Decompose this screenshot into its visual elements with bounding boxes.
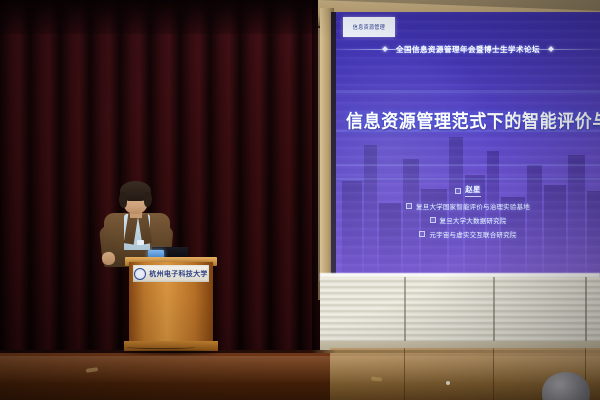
floor-cable [126, 344, 196, 349]
slide-affiliation-row: 元宇宙与虚实交互联合研究院 [336, 229, 600, 239]
square-bullet-icon [406, 203, 412, 209]
speaker-badge [137, 240, 144, 245]
slide-presenter-block: 赵星 复旦大学国家智能评价与治理实验基地 复旦大学大数据研究院 元宇宙与虚实交互… [336, 184, 600, 243]
podium-plaque-text: 杭州电子科技大学 [149, 269, 207, 279]
ribbed-wall-panel [320, 277, 600, 341]
podium-shadow [118, 349, 226, 356]
slide-presenter-row: 赵星 [336, 184, 600, 197]
floor-debris [446, 381, 450, 385]
diamond-bullet-icon [548, 46, 554, 52]
podium-plaque: 杭州电子科技大学 [133, 265, 209, 282]
square-bullet-icon [419, 231, 425, 237]
slide-affiliation-row: 复旦大学国家智能评价与治理实验基地 [336, 201, 600, 211]
floor-seam [493, 348, 494, 400]
slide-affiliation: 复旦大学大数据研究院 [440, 215, 507, 225]
stage-floor-edge [0, 350, 600, 353]
slide-ribbon: 全国信息资源管理年会暨博士生学术论坛 [336, 41, 600, 57]
conference-photo-scene: 信息资源管理 全国信息资源管理年会暨博士生学术论坛 信息资源管理范式下的智能评价… [0, 0, 600, 400]
square-bullet-icon [430, 217, 436, 223]
slide-corner-logo: 信息资源管理 [343, 17, 395, 37]
slide-affiliation: 元宇宙与虚实交互联合研究院 [429, 229, 516, 239]
slide-affiliation: 复旦大学国家智能评价与治理实验基地 [416, 201, 530, 211]
slide-main-title: 信息资源管理范式下的智能评价与治理 [346, 106, 600, 133]
slide-ribbon-title: 全国信息资源管理年会暨博士生学术论坛 [387, 44, 549, 55]
projection-screen: 信息资源管理 全国信息资源管理年会暨博士生学术论坛 信息资源管理范式下的智能评价… [336, 12, 600, 277]
slide-corner-logo-text: 信息资源管理 [353, 23, 385, 31]
slide-affiliation-row: 复旦大学大数据研究院 [336, 215, 600, 225]
floor-seam [404, 348, 405, 400]
speaker-glasses-icon [125, 196, 146, 202]
slide-presenter-name: 赵星 [465, 184, 480, 197]
university-seal-icon [134, 268, 146, 280]
square-bullet-icon [455, 188, 461, 194]
